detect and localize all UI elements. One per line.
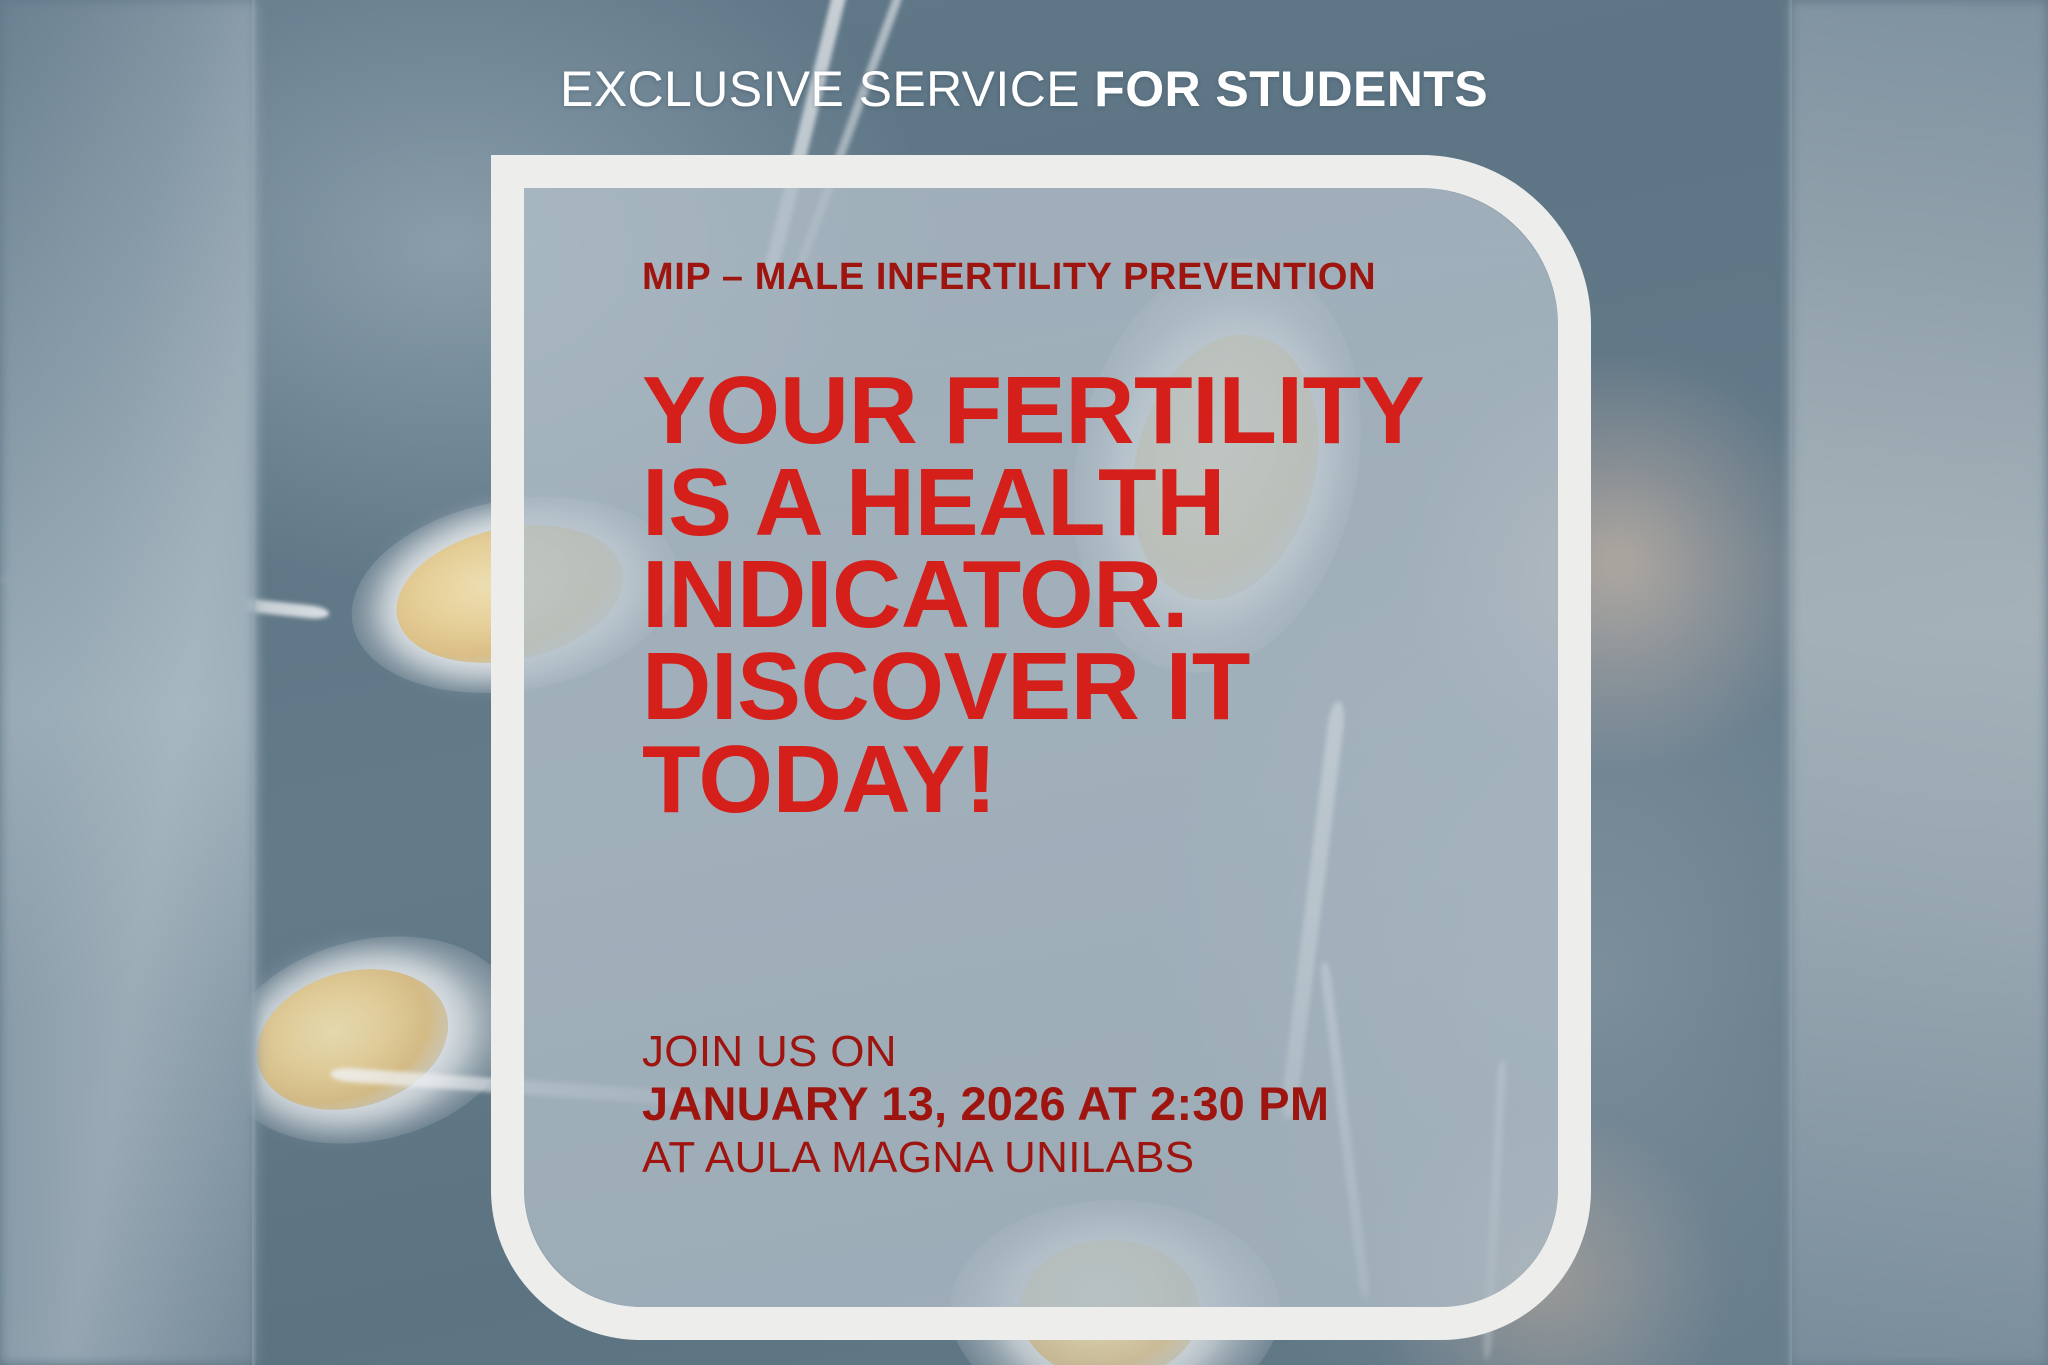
headline-line-4: DISCOVER IT <box>642 641 1502 733</box>
event-venue: AT AULA MAGNA UNILABS <box>642 1132 1329 1183</box>
event-join-label: JOIN US ON <box>642 1026 1329 1077</box>
headline-line-5: TODAY! <box>642 734 1502 826</box>
left-band-edge <box>252 0 257 1365</box>
header-tagline: EXCLUSIVE SERVICE FOR STUDENTS <box>0 60 2048 118</box>
header-bold-text: FOR STUDENTS <box>1094 61 1488 117</box>
event-date-time: JANUARY 13, 2026 AT 2:30 PM <box>642 1077 1329 1132</box>
right-band-edge <box>1787 0 1792 1365</box>
header-light-text: EXCLUSIVE SERVICE <box>560 61 1080 117</box>
left-blurred-band <box>0 0 256 1365</box>
right-blurred-band <box>1790 0 2048 1365</box>
headline: YOUR FERTILITY IS A HEALTH INDICATOR. DI… <box>642 365 1502 826</box>
headline-line-3: INDICATOR. <box>642 549 1502 641</box>
headline-line-2: IS A HEALTH <box>642 457 1502 549</box>
headline-line-1: YOUR FERTILITY <box>642 365 1502 457</box>
content-panel: MIP – MALE INFERTILITY PREVENTION YOUR F… <box>524 188 1558 1307</box>
event-details: JOIN US ON JANUARY 13, 2026 AT 2:30 PM A… <box>642 1026 1329 1184</box>
program-eyebrow: MIP – MALE INFERTILITY PREVENTION <box>642 256 1502 299</box>
content-frame: MIP – MALE INFERTILITY PREVENTION YOUR F… <box>491 155 1591 1340</box>
poster-canvas: EXCLUSIVE SERVICE FOR STUDENTS MIP – MAL… <box>0 0 2048 1365</box>
